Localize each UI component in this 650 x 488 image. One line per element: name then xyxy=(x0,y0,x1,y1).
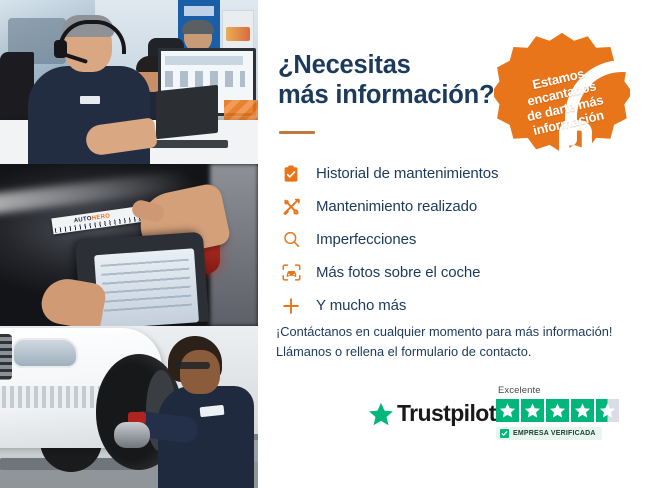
feature-item-maintenance-done: Mantenimiento realizado xyxy=(276,190,616,223)
feature-label: Imperfecciones xyxy=(306,231,416,248)
magnifier-icon xyxy=(276,229,306,251)
plus-icon xyxy=(276,295,306,317)
feature-item-maintenance-history: Historial de mantenimientos xyxy=(276,157,616,190)
star-3 xyxy=(546,399,569,422)
feature-label: Y mucho más xyxy=(306,297,406,314)
contact-paragraph: ¡Contáctanos en cualquier momento para m… xyxy=(276,322,636,362)
call-center-agents-photo xyxy=(0,0,258,164)
feature-label: Más fotos sobre el coche xyxy=(306,264,480,281)
feature-item-more-photos: Más fotos sobre el coche xyxy=(276,256,616,289)
workshop-technician xyxy=(158,336,254,488)
trustpilot-star-icon xyxy=(368,401,394,427)
contact-line-1: ¡Contáctanos en cualquier momento para m… xyxy=(276,322,636,342)
trustpilot-rating-block: Excelente xyxy=(496,385,636,442)
foreground-agent xyxy=(22,18,160,164)
work-glove xyxy=(114,422,150,448)
star-1 xyxy=(496,399,519,422)
rating-label: Excelente xyxy=(498,385,636,396)
feature-list: Historial de mantenimientos Mantenimient… xyxy=(276,157,616,322)
feature-item-imperfections: Imperfecciones xyxy=(276,223,616,256)
trustpilot-logo-text: Trustpilot xyxy=(397,400,496,427)
verified-check-icon xyxy=(500,429,509,438)
car-photo-frame-icon xyxy=(276,262,306,284)
title-underline-rule xyxy=(279,131,315,134)
star-2 xyxy=(521,399,544,422)
contact-line-2: Llámanos o rellena el formulario de cont… xyxy=(276,342,636,362)
support-badge: Estamos encantados de darte más informac… xyxy=(494,27,630,163)
content-panel: ¿Necesitasmás información? Estamos encan… xyxy=(258,0,650,488)
wheel-inspection-photo xyxy=(0,326,258,488)
autohero-logo: AUTOHERO xyxy=(73,212,110,225)
feature-label: Mantenimiento realizado xyxy=(306,198,477,215)
verified-company-text: EMPRESA VERIFICADA xyxy=(513,430,596,437)
trustpilot-logo[interactable]: Trustpilot xyxy=(368,400,496,427)
safety-glasses xyxy=(176,362,210,369)
car-inspection-ruler-photo: AUTOHERO xyxy=(0,164,258,326)
trustpilot-widget[interactable]: Trustpilot Excelente xyxy=(368,385,638,453)
tools-icon xyxy=(276,196,306,218)
star-5-half xyxy=(596,399,619,422)
clipboard-check-icon xyxy=(276,163,306,185)
feature-item-much-more: Y mucho más xyxy=(276,289,616,322)
feature-label: Historial de mantenimientos xyxy=(306,165,498,182)
verified-company-badge: EMPRESA VERIFICADA xyxy=(496,427,602,440)
page-title: ¿Necesitasmás información? xyxy=(278,50,508,110)
star-4 xyxy=(571,399,594,422)
page-title-line-1: ¿Necesitas xyxy=(278,51,411,79)
star-rating xyxy=(496,399,636,422)
promo-banner: AUTOHERO xyxy=(0,0,650,488)
page-title-line-2: más información? xyxy=(278,81,494,109)
photo-column: AUTOHERO xyxy=(0,0,258,488)
